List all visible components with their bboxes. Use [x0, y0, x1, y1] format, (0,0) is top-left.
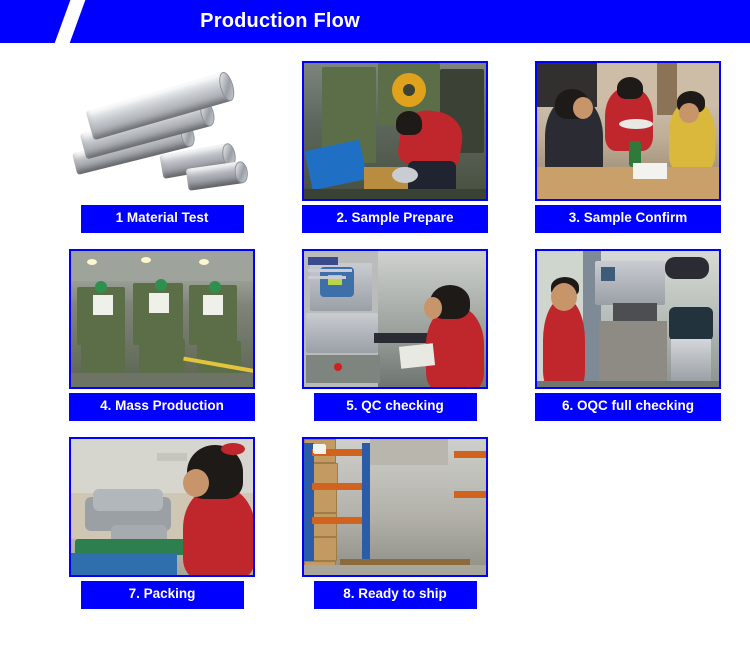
ready-to-ship-illustration — [304, 439, 486, 575]
step-6-caption: 6. OQC full checking — [535, 393, 721, 421]
packing-illustration — [71, 439, 253, 575]
flow-row: 4. Mass Production — [0, 249, 750, 437]
flow-step-6[interactable]: 6. OQC full checking — [511, 249, 745, 437]
qc-checking-illustration — [304, 251, 486, 387]
step-4-photo — [69, 249, 255, 389]
sample-prepare-illustration — [304, 63, 486, 199]
flow-row: 7. Packing — [0, 437, 750, 625]
flow-row: 1 Material Test — [0, 61, 750, 249]
flow-step-3[interactable]: 3. Sample Confirm — [511, 61, 745, 249]
flow-step-1[interactable]: 1 Material Test — [45, 61, 279, 249]
flow-step-8[interactable]: 8. Ready to ship — [278, 437, 512, 625]
page-title: Production Flow — [0, 0, 750, 43]
step-5-photo — [302, 249, 488, 389]
step-5-caption: 5. QC checking — [314, 393, 477, 421]
step-8-caption: 8. Ready to ship — [314, 581, 477, 609]
step-7-photo — [69, 437, 255, 577]
oqc-full-checking-illustration — [537, 251, 719, 387]
production-flow-grid: 1 Material Test — [0, 43, 750, 625]
step-3-caption: 3. Sample Confirm — [535, 205, 721, 233]
step-3-photo — [535, 61, 721, 201]
flow-step-2[interactable]: 2. Sample Prepare — [278, 61, 512, 249]
step-7-caption: 7. Packing — [81, 581, 244, 609]
sample-confirm-illustration — [537, 63, 719, 199]
step-1-photo — [69, 61, 255, 201]
material-bars-illustration — [69, 61, 255, 201]
step-1-caption: 1 Material Test — [81, 205, 244, 233]
page-header: Production Flow — [0, 0, 750, 43]
step-6-photo — [535, 249, 721, 389]
mass-production-illustration — [71, 251, 253, 387]
step-8-photo — [302, 437, 488, 577]
flow-step-7[interactable]: 7. Packing — [45, 437, 279, 625]
step-4-caption: 4. Mass Production — [69, 393, 255, 421]
step-2-photo — [302, 61, 488, 201]
flow-step-4[interactable]: 4. Mass Production — [45, 249, 279, 437]
step-2-caption: 2. Sample Prepare — [302, 205, 488, 233]
flow-step-5[interactable]: 5. QC checking — [278, 249, 512, 437]
